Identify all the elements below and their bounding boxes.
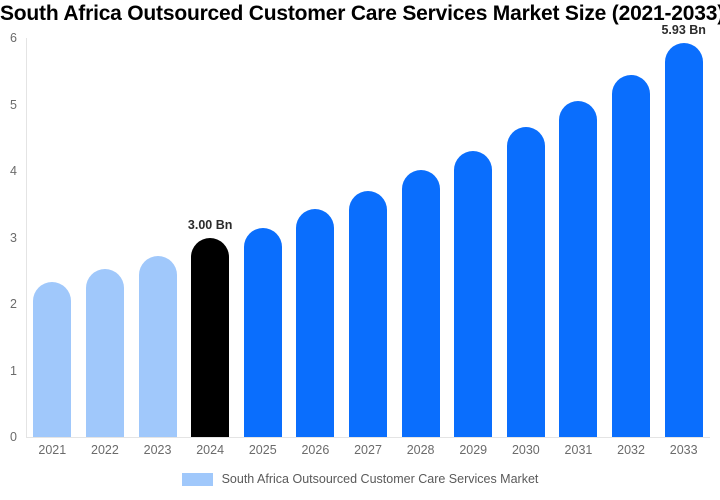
x-axis-tick-label: 2025 xyxy=(249,443,277,457)
y-axis-tick-label: 3 xyxy=(10,231,17,245)
x-axis-tick-label: 2032 xyxy=(617,443,645,457)
y-axis: 0123456 xyxy=(0,0,26,500)
x-axis-tick-label: 2021 xyxy=(38,443,66,457)
bar-rect[interactable] xyxy=(349,191,387,437)
bar-2023[interactable] xyxy=(139,38,177,437)
bar-2027[interactable] xyxy=(349,38,387,437)
x-axis-tick-label: 2029 xyxy=(459,443,487,457)
bar-rect[interactable] xyxy=(507,127,545,437)
x-axis: 2021202220232024202520262027202820292030… xyxy=(26,443,710,463)
bar-rect[interactable] xyxy=(559,101,597,437)
y-axis-tick-label: 2 xyxy=(10,297,17,311)
chart-title: South Africa Outsourced Customer Care Se… xyxy=(0,2,720,26)
bar-rect[interactable] xyxy=(402,170,440,437)
x-axis-tick-label: 2031 xyxy=(565,443,593,457)
x-axis-tick-label: 2028 xyxy=(407,443,435,457)
bar-rect[interactable] xyxy=(86,269,124,437)
bar-rect[interactable] xyxy=(612,75,650,437)
y-axis-tick-label: 1 xyxy=(10,364,17,378)
bar-2028[interactable] xyxy=(402,38,440,437)
bar-2029[interactable] xyxy=(454,38,492,437)
bar-2032[interactable] xyxy=(612,38,650,437)
bar-series: 3.00 Bn5.93 Bn xyxy=(26,38,710,437)
bar-2025[interactable] xyxy=(244,38,282,437)
y-axis-tick-label: 0 xyxy=(10,430,17,444)
legend-label: South Africa Outsourced Customer Care Se… xyxy=(222,472,539,486)
bar-rect[interactable] xyxy=(139,256,177,437)
bar-value-label: 5.93 Bn xyxy=(661,23,705,37)
bar-2024[interactable]: 3.00 Bn xyxy=(191,38,229,437)
x-axis-tick-label: 2022 xyxy=(91,443,119,457)
bar-2031[interactable] xyxy=(559,38,597,437)
chart-container: South Africa Outsourced Customer Care Se… xyxy=(0,0,720,500)
x-axis-tick-label: 2023 xyxy=(144,443,172,457)
y-axis-tick-label: 4 xyxy=(10,164,17,178)
bar-2022[interactable] xyxy=(86,38,124,437)
bar-rect[interactable] xyxy=(454,151,492,437)
chart-legend: South Africa Outsourced Customer Care Se… xyxy=(0,472,720,486)
bar-2021[interactable] xyxy=(33,38,71,437)
bar-2030[interactable] xyxy=(507,38,545,437)
y-axis-tick-label: 5 xyxy=(10,98,17,112)
x-axis-tick-label: 2027 xyxy=(354,443,382,457)
x-axis-tick-label: 2033 xyxy=(670,443,698,457)
bar-2026[interactable] xyxy=(296,38,334,437)
bar-rect[interactable] xyxy=(665,43,703,437)
bar-2033[interactable]: 5.93 Bn xyxy=(665,38,703,437)
x-axis-tick-label: 2030 xyxy=(512,443,540,457)
x-axis-tick-label: 2026 xyxy=(301,443,329,457)
y-axis-tick-label: 6 xyxy=(10,31,17,45)
legend-swatch-icon xyxy=(182,473,213,486)
bar-rect[interactable] xyxy=(296,209,334,437)
bar-rect[interactable] xyxy=(244,228,282,437)
bar-rect[interactable] xyxy=(33,282,71,437)
x-axis-tick-label: 2024 xyxy=(196,443,224,457)
bar-value-label: 3.00 Bn xyxy=(188,218,232,232)
bar-rect[interactable] xyxy=(191,238,229,438)
x-axis-line xyxy=(26,437,710,438)
